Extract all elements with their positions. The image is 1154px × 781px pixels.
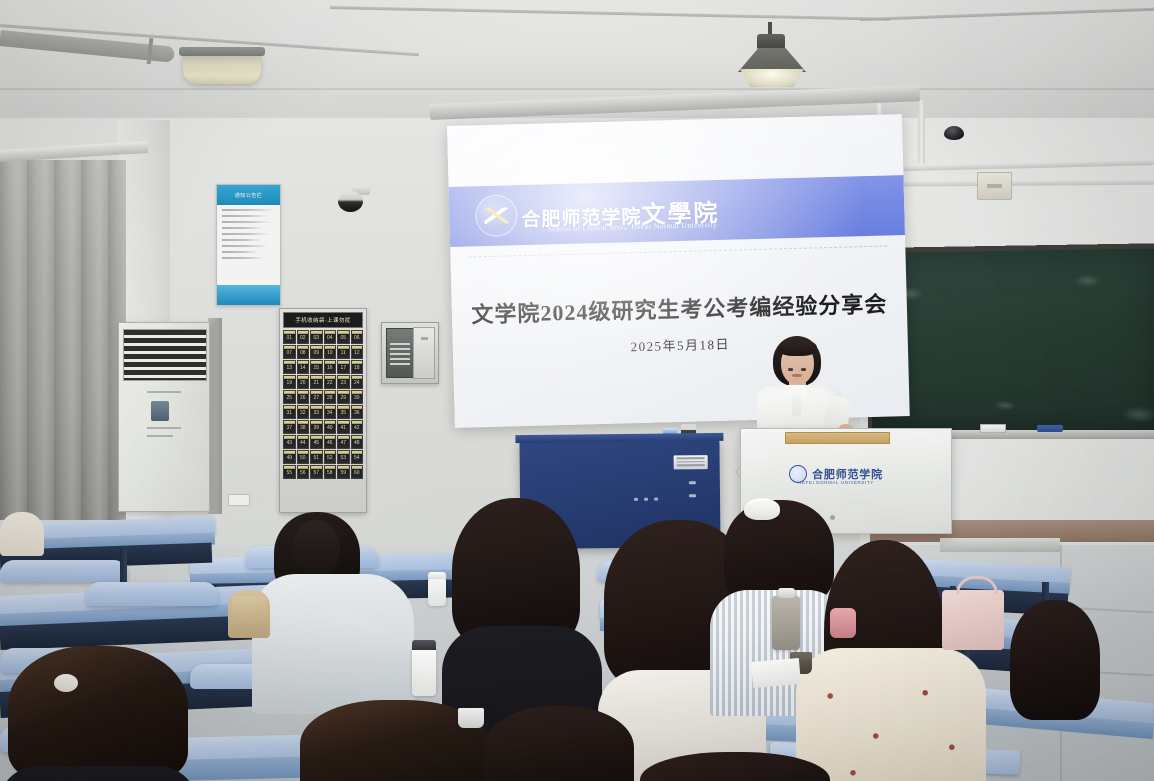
- student-floral-top: [796, 648, 986, 781]
- phone-pocket-number: 52: [327, 453, 333, 463]
- phone-pocket[interactable]: 18: [351, 360, 364, 374]
- air-conditioner-side: [208, 318, 222, 514]
- phone-pocket[interactable]: 59: [337, 465, 350, 479]
- bench-seat: [0, 560, 128, 582]
- phone-pocket[interactable]: 02: [297, 330, 310, 344]
- phone-pocket[interactable]: 03: [310, 330, 323, 344]
- chalk-smudge: [1074, 274, 1102, 287]
- phone-pocket[interactable]: 21: [310, 375, 323, 389]
- phone-pocket-number: 05: [340, 333, 346, 343]
- phone-pocket-number: 53: [340, 453, 346, 463]
- phone-pocket[interactable]: 23: [337, 375, 350, 389]
- phone-pocket[interactable]: 42: [351, 420, 364, 434]
- phone-pocket-number: 14: [300, 363, 306, 373]
- phone-chart-title-text: 手机收纳袋·上课勿扰: [295, 316, 350, 324]
- pendant-lamp-icon: [735, 22, 809, 88]
- student-head: [292, 520, 340, 576]
- console-vent-panel: [674, 455, 708, 469]
- student-hair: [8, 646, 188, 781]
- pink-tote-bag: [942, 590, 1004, 650]
- hair-clip: [54, 674, 78, 692]
- logo-bird-glyph: [484, 207, 508, 224]
- phone-pocket[interactable]: 48: [351, 435, 364, 449]
- junction-box-icon: [977, 172, 1012, 200]
- phone-pocket-number: 15: [313, 363, 319, 373]
- student-hair: [1010, 600, 1100, 720]
- console-indicators: [689, 481, 696, 507]
- student-top: [0, 766, 198, 781]
- phone-pocket[interactable]: 46: [324, 435, 337, 449]
- ceiling-seam: [330, 6, 890, 21]
- ceiling-seam: [860, 8, 1154, 21]
- phone-pocket[interactable]: 05: [337, 330, 350, 344]
- console-indicators: [634, 488, 664, 506]
- phone-pocket-chart[interactable]: 手机收纳袋·上课勿扰 01020304050607080910111213141…: [279, 308, 367, 513]
- water-bottle: [428, 578, 446, 606]
- phone-pocket-number: 23: [340, 378, 346, 388]
- phone-pocket-number: 04: [327, 333, 333, 343]
- slide-divider: [469, 246, 887, 258]
- wall-conduit-vertical: [918, 100, 925, 164]
- phone-pocket[interactable]: 01: [283, 330, 296, 344]
- phone-pocket[interactable]: 54: [351, 450, 364, 464]
- phone-chart-title: 手机收纳袋·上课勿扰: [283, 312, 363, 328]
- phone-pocket[interactable]: 40: [324, 420, 337, 434]
- slide-title: 文学院2024级研究生考公考编经验分享会: [452, 286, 908, 330]
- pink-bottle: [830, 608, 856, 638]
- presenter-fringe: [778, 339, 817, 356]
- phone-pocket-number: 36: [354, 408, 360, 418]
- phone-pocket-number: 08: [300, 348, 306, 358]
- chalk-smudge: [1121, 406, 1154, 423]
- student-shoulder: [0, 512, 44, 556]
- phone-pocket[interactable]: 28: [324, 390, 337, 404]
- phone-pocket-number: 09: [313, 348, 319, 358]
- phone-pocket-number: 11: [341, 348, 346, 358]
- control-cabinet-door[interactable]: [413, 327, 435, 379]
- notice-board[interactable]: 通知公告栏: [216, 184, 281, 306]
- phone-pocket-number: 57: [313, 468, 319, 478]
- phone-pocket[interactable]: 37: [283, 420, 296, 434]
- phone-pocket-number: 12: [354, 348, 360, 358]
- phone-pocket-number: 25: [286, 393, 292, 403]
- phone-pocket[interactable]: 32: [297, 405, 310, 419]
- phone-pocket-number: 59: [340, 468, 346, 478]
- phone-pocket-number: 55: [286, 468, 292, 478]
- lectern-knob: [830, 515, 835, 520]
- notice-line: [222, 233, 270, 235]
- phone-pocket[interactable]: 06: [351, 330, 364, 344]
- wall-socket-icon: [228, 494, 250, 506]
- phone-pocket-number: 46: [327, 438, 333, 448]
- phone-pocket[interactable]: 60: [351, 465, 364, 479]
- phone-pocket-number: 27: [313, 393, 319, 403]
- wall-lamp-icon: [183, 52, 261, 84]
- paper-cup: [458, 708, 484, 728]
- notice-line: [222, 257, 265, 259]
- phone-pocket[interactable]: 41: [337, 420, 350, 434]
- chalk-smudge: [994, 400, 1017, 410]
- control-cabinet-interior: [386, 328, 414, 378]
- phone-pocket[interactable]: 29: [337, 390, 350, 404]
- phone-pocket-number: 51: [313, 453, 319, 463]
- phone-pocket[interactable]: 34: [324, 405, 337, 419]
- lectern-institution-en: HEFEI NORMAL UNIVERSITY: [782, 480, 890, 485]
- blackboard: [868, 243, 1154, 439]
- phone-pocket[interactable]: 50: [297, 450, 310, 464]
- white-tumbler: [412, 648, 436, 696]
- phone-pocket-number: 10: [327, 348, 333, 358]
- presenter-eye: [788, 368, 793, 371]
- phone-pocket[interactable]: 31: [283, 405, 296, 419]
- phone-pocket-number: 24: [354, 378, 360, 388]
- beige-handbag: [232, 596, 266, 630]
- phone-pocket[interactable]: 49: [283, 450, 296, 464]
- phone-pocket-number: 41: [340, 423, 346, 433]
- blue-marker[interactable]: [1037, 425, 1063, 432]
- phone-pocket[interactable]: 25: [283, 390, 296, 404]
- notice-line: [222, 209, 275, 211]
- notice-line: [222, 239, 262, 241]
- breaker-switches: [390, 343, 410, 368]
- presenter: [747, 336, 857, 436]
- phone-pocket-number: 13: [286, 363, 292, 373]
- pendant-cap: [757, 34, 785, 50]
- phone-pocket-number: 01: [286, 333, 292, 343]
- paper-sheet: [751, 658, 801, 688]
- phone-pocket-grid: 0102030405060708091011121314151617181920…: [283, 330, 363, 479]
- phone-pocket[interactable]: 11: [337, 345, 350, 359]
- phone-pocket-number: 20: [300, 378, 306, 388]
- notice-line: [222, 215, 269, 217]
- phone-pocket[interactable]: 14: [297, 360, 310, 374]
- phone-pocket[interactable]: 27: [310, 390, 323, 404]
- student-hair: [484, 706, 634, 781]
- notice-line: [222, 221, 272, 223]
- phone-pocket[interactable]: 36: [351, 405, 364, 419]
- presenter-bow-tie: [792, 394, 801, 416]
- phone-pocket[interactable]: 19: [283, 375, 296, 389]
- university-logo-icon: [475, 194, 518, 237]
- slide-banner: 合肥师范学院文學院 School of Liberal Arts，HeFei N…: [449, 175, 905, 247]
- phone-pocket[interactable]: 20: [297, 375, 310, 389]
- notice-line: [222, 245, 268, 247]
- phone-pocket[interactable]: 30: [351, 390, 364, 404]
- phone-pocket[interactable]: 52: [324, 450, 337, 464]
- phone-pocket[interactable]: 26: [297, 390, 310, 404]
- phone-pocket[interactable]: 51: [310, 450, 323, 464]
- phone-pocket[interactable]: 56: [297, 465, 310, 479]
- phone-pocket-number: 22: [327, 378, 333, 388]
- phone-pocket-number: 38: [300, 423, 306, 433]
- phone-pocket-number: 49: [286, 453, 292, 463]
- phone-pocket[interactable]: 57: [310, 465, 323, 479]
- phone-pocket-number: 19: [286, 378, 292, 388]
- phone-pocket-number: 58: [327, 468, 333, 478]
- phone-pocket-number: 17: [340, 363, 346, 373]
- phone-pocket-number: 47: [340, 438, 346, 448]
- lectern-wood-trim: [785, 432, 890, 444]
- blackboard-eraser[interactable]: [980, 424, 1006, 433]
- phone-pocket[interactable]: 33: [310, 405, 323, 419]
- air-conditioner-vents: [123, 329, 207, 381]
- phone-pocket-number: 34: [327, 408, 333, 418]
- phone-pocket[interactable]: 47: [337, 435, 350, 449]
- phone-pocket[interactable]: 38: [297, 420, 310, 434]
- notice-board-body: [217, 205, 280, 267]
- phone-pocket-number: 35: [340, 408, 346, 418]
- phone-pocket[interactable]: 43: [283, 435, 296, 449]
- phone-pocket-number: 07: [286, 348, 292, 358]
- phone-pocket-number: 44: [300, 438, 306, 448]
- phone-pocket-number: 56: [300, 468, 306, 478]
- student-jacket: [252, 574, 414, 714]
- phone-pocket-number: 30: [354, 393, 360, 403]
- dome-security-camera-icon: [338, 186, 370, 212]
- hair-ribbon: [744, 498, 780, 520]
- phone-pocket-number: 32: [300, 408, 306, 418]
- notice-line: [222, 227, 264, 229]
- tumbler-lid: [412, 640, 436, 650]
- lecture-hall-photo: 通知公告栏 手机收纳袋·上课勿扰 01020304050607080910111…: [0, 0, 1154, 781]
- presenter-eye: [801, 368, 806, 371]
- phone-pocket-number: 33: [313, 408, 319, 418]
- phone-pocket[interactable]: 53: [337, 450, 350, 464]
- phone-pocket-number: 48: [354, 438, 360, 448]
- bench-seat: [86, 582, 218, 606]
- phone-pocket-number: 28: [327, 393, 333, 403]
- phone-pocket-number: 39: [313, 423, 319, 433]
- bottle-lid: [428, 572, 446, 579]
- phone-pocket[interactable]: 12: [351, 345, 364, 359]
- phone-pocket-number: 45: [313, 438, 319, 448]
- console-top-edge: [515, 433, 723, 443]
- control-cabinet[interactable]: [381, 322, 439, 384]
- phone-pocket[interactable]: 35: [337, 405, 350, 419]
- notice-board-header-text: 通知公告栏: [235, 192, 263, 199]
- ac-display-panel[interactable]: [151, 401, 169, 421]
- phone-pocket-number: 18: [354, 363, 360, 373]
- ac-label-line: [147, 391, 181, 393]
- phone-pocket-number: 26: [300, 393, 306, 403]
- phone-pocket[interactable]: 17: [337, 360, 350, 374]
- wall-shelf: [940, 538, 1060, 552]
- phone-pocket-number: 42: [354, 423, 360, 433]
- phone-pocket-number: 43: [286, 438, 292, 448]
- phone-pocket-number: 06: [354, 333, 360, 343]
- phone-pocket-number: 40: [327, 423, 333, 433]
- presenter-mouth: [792, 374, 802, 377]
- phone-pocket[interactable]: 44: [297, 435, 310, 449]
- ceiling-wall-joint: [0, 88, 1154, 90]
- camera-dome: [338, 191, 363, 212]
- phone-pocket[interactable]: 07: [283, 345, 296, 359]
- phone-pocket[interactable]: 16: [324, 360, 337, 374]
- phone-pocket[interactable]: 39: [310, 420, 323, 434]
- phone-pocket-number: 31: [286, 408, 292, 418]
- thermos-lid: [778, 588, 795, 598]
- notice-board-footer: [217, 285, 280, 305]
- phone-pocket[interactable]: 10: [324, 345, 337, 359]
- phone-pocket[interactable]: 55: [283, 465, 296, 479]
- pendant-shade: [738, 48, 806, 72]
- phone-pocket-number: 02: [300, 333, 306, 343]
- air-conditioner[interactable]: [118, 322, 210, 512]
- ac-label-line: [147, 435, 173, 437]
- phone-pocket[interactable]: 13: [283, 360, 296, 374]
- phone-pocket-number: 54: [354, 453, 360, 463]
- blackout-curtain: [0, 160, 126, 520]
- phone-pocket[interactable]: 45: [310, 435, 323, 449]
- pendant-glass: [740, 69, 804, 87]
- lectern-nameplate: 合肥师范学院 HEFEI NORMAL UNIVERSITY: [782, 448, 890, 500]
- phone-pocket-number: 50: [300, 453, 306, 463]
- phone-pocket[interactable]: 58: [324, 465, 337, 479]
- phone-pocket-number: 16: [327, 363, 333, 373]
- phone-pocket-number: 60: [354, 468, 360, 478]
- phone-pocket[interactable]: 15: [310, 360, 323, 374]
- phone-pocket[interactable]: 22: [324, 375, 337, 389]
- notice-line: [222, 251, 259, 253]
- ac-label-line: [147, 427, 181, 429]
- phone-pocket[interactable]: 08: [297, 345, 310, 359]
- phone-pocket[interactable]: 04: [324, 330, 337, 344]
- ceiling-speaker-icon: [944, 126, 964, 140]
- phone-pocket[interactable]: 09: [310, 345, 323, 359]
- notice-board-header: 通知公告栏: [217, 185, 280, 205]
- phone-pocket-number: 21: [313, 378, 319, 388]
- steel-thermos: [772, 596, 800, 650]
- phone-pocket-number: 37: [286, 423, 292, 433]
- phone-pocket[interactable]: 24: [351, 375, 364, 389]
- phone-pocket-number: 03: [313, 333, 319, 343]
- phone-pocket-number: 29: [340, 393, 346, 403]
